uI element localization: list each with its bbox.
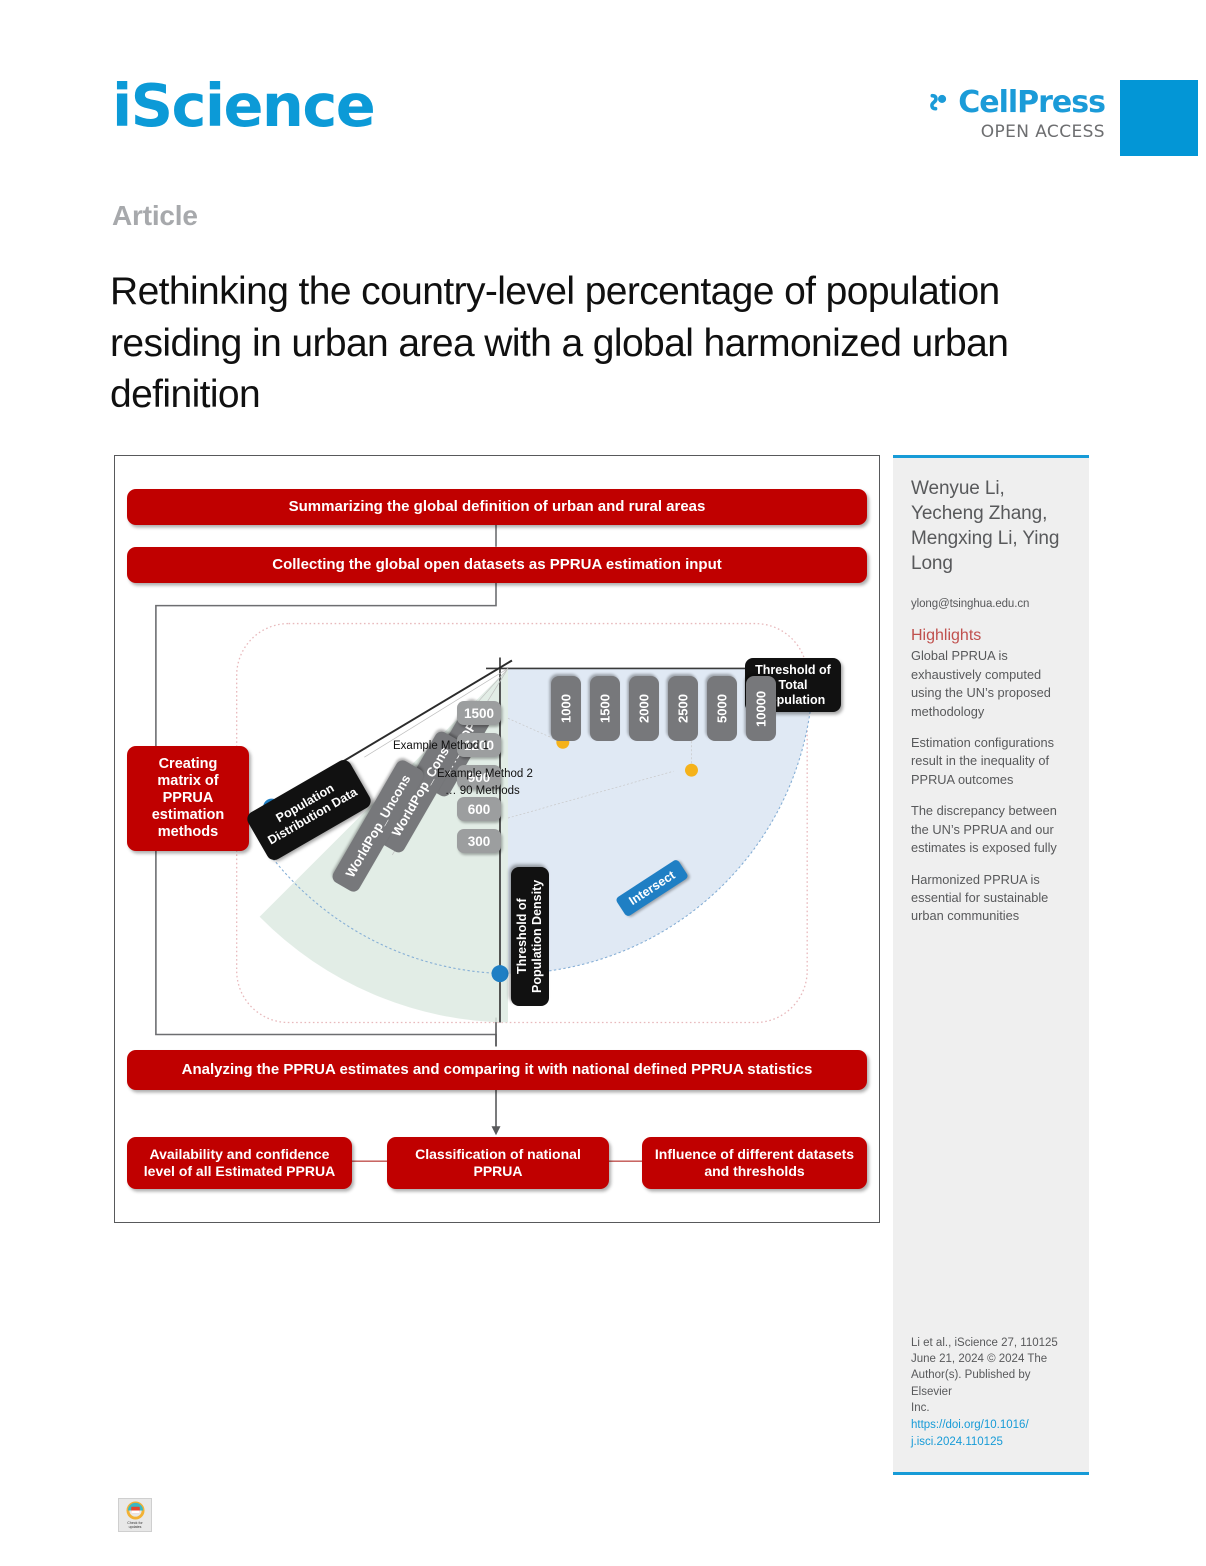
open-access-label: OPEN ACCESS: [925, 122, 1105, 142]
author-list: Wenyue Li, Yecheng Zhang, Mengxing Li, Y…: [911, 476, 1073, 576]
process-step-summarize[interactable]: Summarizing the global definition of urb…: [127, 489, 867, 525]
total-population-threshold-10000: 10000: [746, 676, 776, 741]
outcome-availability[interactable]: Availability and confidence level of all…: [127, 1137, 352, 1189]
citation-block: Li et al., iScience 27, 110125 June 21, …: [911, 1335, 1071, 1450]
citation-line-1: Li et al., iScience 27, 110125: [911, 1335, 1071, 1351]
total-population-threshold-5000: 5000: [707, 676, 737, 741]
highlight-item: Harmonized PPRUA is essential for sustai…: [911, 871, 1073, 926]
crossmark-caption-line-2: updates: [129, 1525, 142, 1529]
cellpress-logo-block: CellPress OPEN ACCESS: [925, 88, 1105, 142]
outcome-classification[interactable]: Classification of national PPRUA: [387, 1137, 609, 1189]
brand-color-square: [1120, 80, 1198, 156]
crossmark-caption: Check for updates: [127, 1521, 142, 1529]
author-highlights-sidebar: Wenyue Li, Yecheng Zhang, Mengxing Li, Y…: [893, 455, 1089, 1475]
citation-line-2: June 21, 2024 © 2024 The: [911, 1351, 1071, 1367]
highlights-list: Global PPRUA is exhaustively computed us…: [911, 647, 1073, 925]
total-population-threshold-2000: 2000: [629, 676, 659, 741]
example-method-1-label: Example Method 1: [393, 740, 489, 752]
cellpress-mark-icon: [925, 90, 951, 116]
corresponding-email[interactable]: ylong@tsinghua.edu.cn: [911, 598, 1073, 610]
crossmark-badge[interactable]: Check for updates: [118, 1498, 152, 1532]
example-method-2-label: Example Method 2: [437, 768, 533, 780]
highlights-heading: Highlights: [911, 627, 1073, 645]
crossmark-icon: [126, 1501, 145, 1520]
citation-line-4: Inc.: [911, 1400, 1071, 1416]
journal-logo: iScience: [112, 76, 374, 135]
chip-threshold-population-density: Threshold of Population Density: [511, 867, 549, 1006]
highlight-item: Global PPRUA is exhaustively computed us…: [911, 647, 1073, 721]
more-methods-label: … 90 Methods: [445, 785, 520, 797]
process-step-analyzing[interactable]: Analyzing the PPRUA estimates and compar…: [127, 1050, 867, 1090]
article-type-kicker: Article: [112, 200, 198, 232]
highlight-item: Estimation configurations result in the …: [911, 734, 1073, 789]
process-step-creating-matrix[interactable]: Creating matrix of PPRUA estimation meth…: [127, 746, 249, 851]
graphical-abstract-figure: Summarizing the global definition of urb…: [114, 455, 880, 1223]
cellpress-wordmark: CellPress: [958, 88, 1105, 118]
highlight-item: The discrepancy between the UN’s PPRUA a…: [911, 802, 1073, 857]
population-density-threshold-600: 600: [457, 797, 501, 821]
population-density-threshold-300: 300: [457, 829, 501, 853]
outcome-influence[interactable]: Influence of different datasets and thre…: [642, 1137, 867, 1189]
doi-link[interactable]: https://doi.org/10.1016/ j.isci.2024.110…: [911, 1417, 1071, 1450]
page-title: Rethinking the country-level percentage …: [110, 266, 1070, 420]
doi-line-2: j.isci.2024.110125: [911, 1434, 1071, 1450]
population-density-threshold-1500: 1500: [457, 701, 501, 725]
process-step-collecting[interactable]: Collecting the global open datasets as P…: [127, 547, 867, 583]
masthead: iScience CellPress OPEN ACCESS: [0, 0, 1206, 180]
total-population-threshold-2500: 2500: [668, 676, 698, 741]
citation-line-3: Author(s). Published by Elsevier: [911, 1367, 1071, 1400]
doi-line-1: https://doi.org/10.1016/: [911, 1417, 1071, 1433]
total-population-threshold-1000: 1000: [551, 676, 581, 741]
total-population-threshold-1500: 1500: [590, 676, 620, 741]
